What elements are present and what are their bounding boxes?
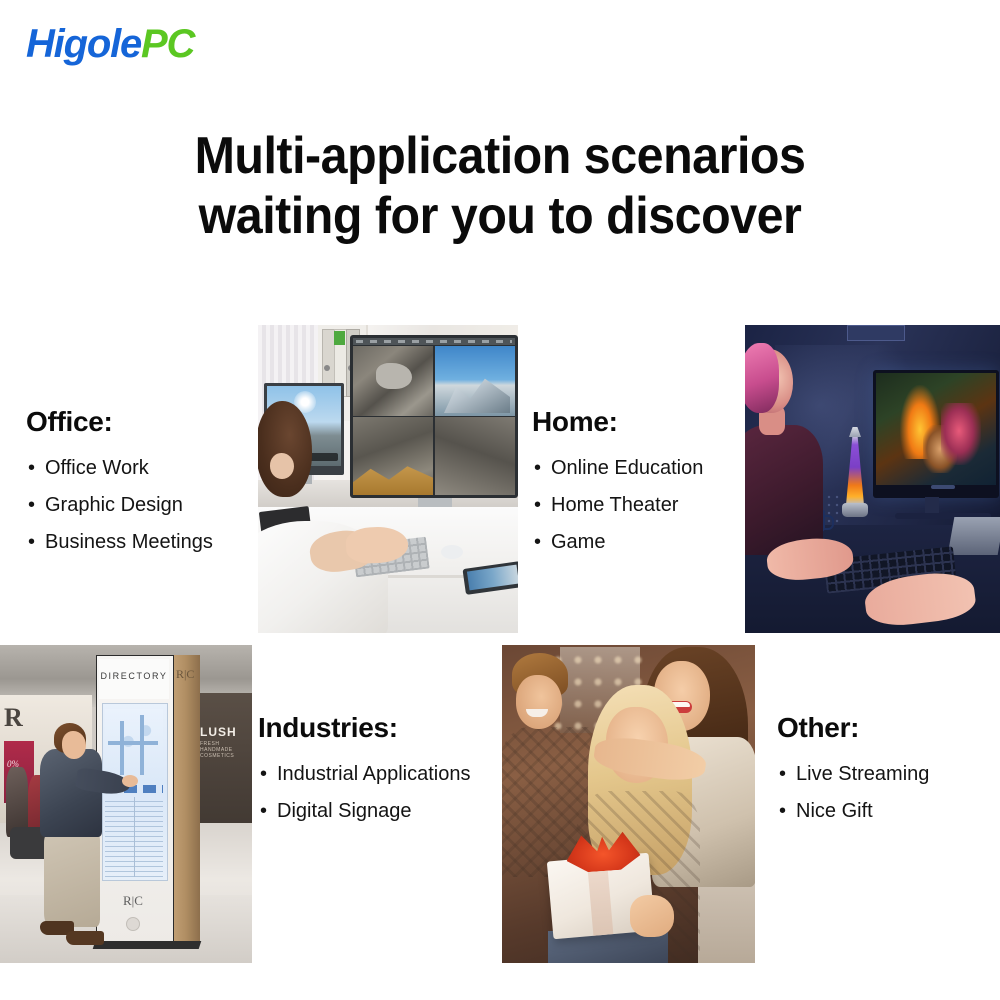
office-binder-ring — [324, 365, 330, 371]
mall-store-letter: R — [4, 703, 23, 733]
kiosk-user-face — [62, 731, 86, 759]
brand-name-primary: Higole — [26, 22, 141, 66]
bullet-icon: • — [534, 487, 541, 524]
list-item: •Live Streaming — [777, 756, 929, 793]
list-item-label: Live Streaming — [796, 763, 929, 785]
gift-man-face — [516, 675, 562, 729]
home-monitor-logo — [931, 485, 955, 489]
bullet-icon: • — [28, 450, 35, 487]
home-feature-list: •Online Education •Home Theater •Game — [532, 450, 703, 561]
office-monitor-viewport-4 — [435, 417, 515, 495]
kiosk-directory-label: DIRECTORY — [99, 671, 169, 681]
office-mouse — [441, 545, 463, 559]
gift-photo — [502, 645, 755, 963]
bullet-icon: • — [28, 524, 35, 561]
list-item: •Graphic Design — [26, 487, 213, 524]
office-text-block: Office: •Office Work •Graphic Design •Bu… — [26, 406, 213, 561]
kiosk-user-legs — [44, 831, 100, 927]
list-item-label: Nice Gift — [796, 800, 873, 822]
home-wall-frame — [847, 325, 905, 341]
home-person-torso — [745, 425, 823, 555]
page-title: Multi-application scenarios waiting for … — [35, 126, 965, 246]
home-mug-handle — [823, 515, 834, 530]
list-item: •Digital Signage — [258, 793, 470, 830]
kiosk-user-torso — [40, 749, 102, 837]
industries-text-block: Industries: •Industrial Applications •Di… — [258, 712, 470, 830]
list-item: •Game — [532, 524, 703, 561]
list-item: •Home Theater — [532, 487, 703, 524]
mall-store-sign: LUSH — [200, 725, 252, 741]
list-item: •Nice Gift — [777, 793, 929, 830]
list-item: •Industrial Applications — [258, 756, 470, 793]
list-item: •Office Work — [26, 450, 213, 487]
page-title-line-1: Multi-application scenarios — [35, 126, 965, 186]
home-lava-lamp-base — [842, 503, 868, 517]
office-person-hair — [258, 401, 312, 497]
kiosk-map-corridor — [108, 741, 158, 745]
list-item-label: Business Meetings — [45, 531, 213, 553]
kiosk-map-corridor — [140, 715, 144, 775]
kiosk-map-area — [105, 709, 163, 781]
industries-feature-list: •Industrial Applications •Digital Signag… — [258, 756, 470, 830]
other-feature-list: •Live Streaming •Nice Gift — [777, 756, 929, 830]
kiosk-user-hand — [122, 775, 138, 787]
office-person-face — [270, 453, 294, 479]
industries-heading: Industries: — [258, 712, 470, 744]
home-text-block: Home: •Online Education •Home Theater •G… — [532, 406, 703, 561]
kiosk-listing-divider — [134, 797, 135, 877]
bullet-icon: • — [260, 793, 267, 830]
kiosk-logo-bottom: R|C — [118, 893, 148, 909]
bullet-icon: • — [779, 756, 786, 793]
bullet-icon: • — [28, 487, 35, 524]
home-game-character — [941, 403, 981, 465]
page-title-line-2: waiting for you to discover — [35, 186, 965, 246]
industries-photo: R 0% LUSH FRESH HANDMADE COSMETICS DIREC… — [0, 645, 252, 963]
bullet-icon: • — [260, 756, 267, 793]
list-item-label: Online Education — [551, 457, 703, 479]
office-monitor-menubar — [353, 338, 515, 345]
other-heading: Other: — [777, 712, 929, 744]
list-item-label: Office Work — [45, 457, 149, 479]
home-photo — [745, 325, 1000, 633]
other-text-block: Other: •Live Streaming •Nice Gift — [777, 712, 929, 830]
mall-store-sign-subtitle: FRESH HANDMADE COSMETICS — [200, 741, 252, 749]
home-laptop — [948, 517, 1000, 555]
bullet-icon: • — [534, 524, 541, 561]
list-item: •Online Education — [532, 450, 703, 487]
gift-holding-hand — [630, 895, 674, 937]
bullet-icon: • — [779, 793, 786, 830]
office-heading: Office: — [26, 406, 213, 438]
list-item-label: Industrial Applications — [277, 763, 470, 785]
list-item: •Business Meetings — [26, 524, 213, 561]
kiosk-sensor — [126, 917, 140, 931]
office-binder-label — [334, 331, 345, 345]
list-item-label: Digital Signage — [277, 800, 412, 822]
list-item-label: Home Theater — [551, 494, 678, 516]
list-item-label: Game — [551, 531, 605, 553]
bullet-icon: • — [534, 450, 541, 487]
kiosk-logo-top: R|C — [176, 667, 194, 682]
brand-logo: HigolePC — [26, 24, 194, 64]
office-terrain-patch — [376, 363, 412, 389]
home-heading: Home: — [532, 406, 703, 438]
office-photo — [258, 325, 518, 633]
brand-name-secondary: PC — [141, 22, 194, 66]
kiosk-user-shoe — [66, 931, 104, 945]
kiosk-map-corridor — [120, 721, 124, 775]
office-feature-list: •Office Work •Graphic Design •Business M… — [26, 450, 213, 561]
list-item-label: Graphic Design — [45, 494, 183, 516]
home-person-hair — [745, 343, 779, 413]
kiosk-base — [93, 941, 202, 949]
